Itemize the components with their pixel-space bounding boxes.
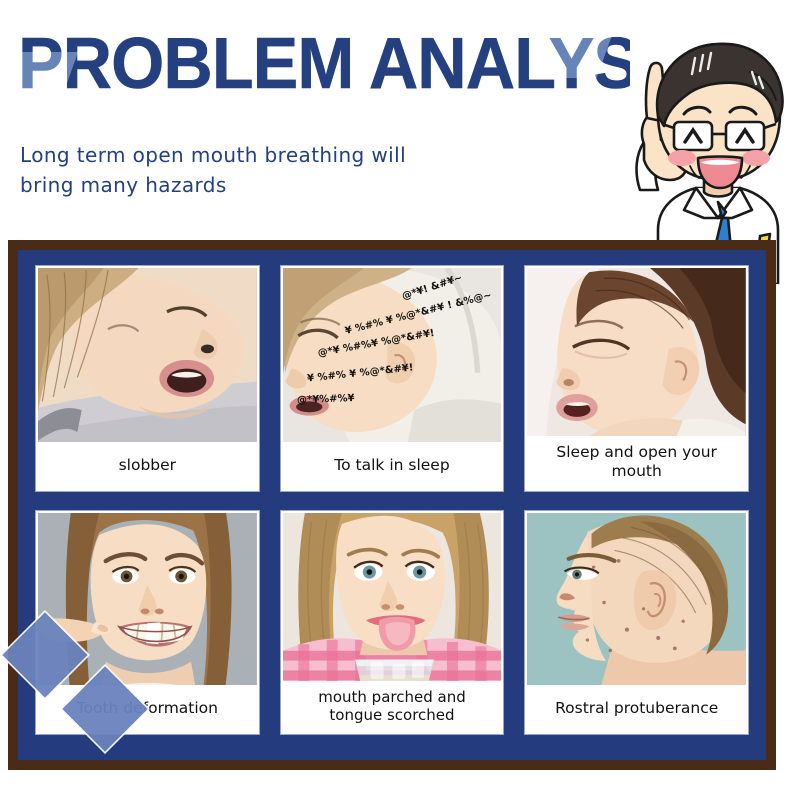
hazard-card[interactable]: mouth parched and tongue scorched [281,511,504,734]
page-title: PROBLEM ANALYSIS [18,26,630,102]
hazard-card-caption: Tooth deformation [38,685,257,732]
page-subtitle: Long term open mouth breathing will brin… [20,140,490,200]
hazard-card[interactable]: Sleep and open your mouth [525,266,748,491]
photo-girl-tongue-out-with-glass [283,513,502,681]
photo-man-profile-protruding-mouth [527,513,746,685]
content-panel-frame: slobber [8,240,776,770]
hazard-card-caption: Rostral protuberance [527,685,746,732]
content-panel: slobber [18,250,766,760]
sleep-talk-symbol: @*¥%#%¥ [296,393,354,406]
hazard-card-grid: slobber [36,266,748,734]
photo-girl-pointing-at-teeth [38,513,257,685]
hazard-card-caption: To talk in sleep [283,442,502,489]
photo-sleeping-child-open-mouth [527,268,746,436]
hazard-card[interactable]: Rostral protuberance [525,511,748,734]
hazard-card-caption: slobber [38,442,257,489]
hazard-card-caption: mouth parched and tongue scorched [283,681,502,732]
hazard-card[interactable]: @*¥! &#¥~ ¥ %#% ¥ %@*&#¥ ! &%@~ @*¥ %#%¥… [281,266,504,491]
poster-canvas: PROBLEM ANALYSIS Long term open mouth br… [0,0,800,800]
poster-header: PROBLEM ANALYSIS Long term open mouth br… [0,0,800,240]
photo-sleeping-woman-open-mouth [38,268,257,442]
photo-child-talking-in-sleep: @*¥! &#¥~ ¥ %#% ¥ %@*&#¥ ! &%@~ @*¥ %#%¥… [283,268,502,442]
title-wrap: PROBLEM ANALYSIS [0,0,630,110]
hazard-card[interactable]: slobber [36,266,259,491]
hazard-card[interactable]: Tooth deformation [36,511,259,734]
hazard-card-caption: Sleep and open your mouth [527,436,746,489]
